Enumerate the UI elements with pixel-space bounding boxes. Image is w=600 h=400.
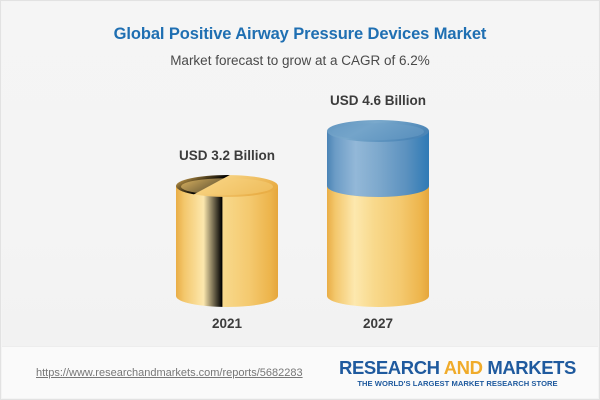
bar-category-label-2021: 2021 (212, 316, 242, 331)
bar-cylinder-2027[interactable] (327, 120, 429, 307)
chart-card: Global Positive Airway Pressure Devices … (0, 0, 600, 400)
chart-footer: https://www.researchandmarkets.com/repor… (2, 346, 598, 398)
bar-group-2021: USD 3.2 Billion (176, 2, 278, 348)
chart-body: Global Positive Airway Pressure Devices … (2, 2, 598, 348)
bar-cylinder-2027-svg (327, 120, 429, 307)
bar-cylinder-2021[interactable] (176, 175, 278, 307)
logo-wordmark: RESEARCH AND MARKETS (339, 358, 576, 378)
bar-category-label-2027: 2027 (363, 316, 393, 331)
bar-value-label-2027: USD 4.6 Billion (330, 93, 426, 108)
logo-word-markets: MARKETS (487, 357, 576, 378)
bar-cylinder-2021-svg (176, 175, 278, 307)
research-and-markets-logo[interactable]: RESEARCH AND MARKETS THE WORLD'S LARGEST… (339, 358, 576, 388)
logo-word-and-text: AND (444, 357, 483, 378)
report-url-link[interactable]: https://www.researchandmarkets.com/repor… (36, 367, 303, 379)
logo-word-research: RESEARCH (339, 357, 440, 378)
bar-group-2027: USD 4.6 Billion (327, 2, 429, 348)
logo-tagline: THE WORLD'S LARGEST MARKET RESEARCH STOR… (339, 379, 576, 388)
chart-plot-area: USD 3.2 Billion (2, 2, 600, 348)
bar-value-label-2021: USD 3.2 Billion (179, 148, 275, 163)
